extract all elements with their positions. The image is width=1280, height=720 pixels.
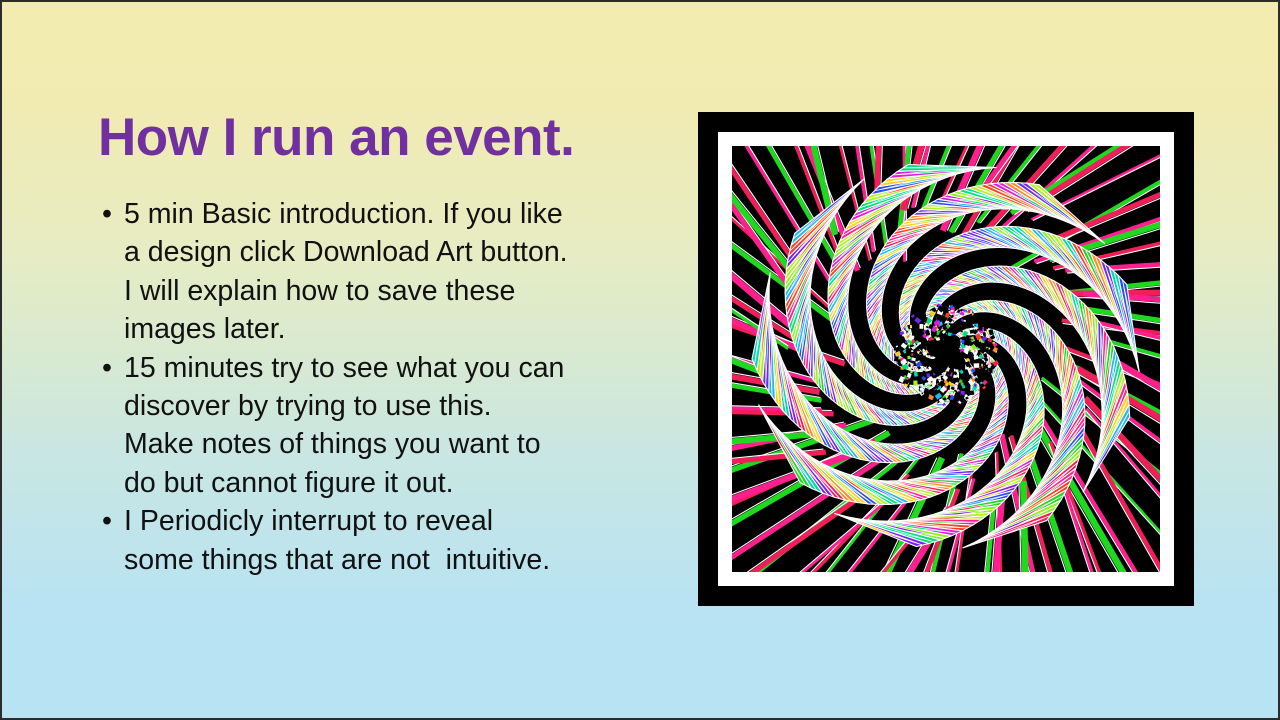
bullet-marker-icon: • xyxy=(102,349,112,387)
artwork-frame xyxy=(698,112,1194,606)
slide-canvas: How I run an event. •5 min Basic introdu… xyxy=(0,0,1280,720)
list-item-line: some things that are not intuitive. xyxy=(124,541,673,579)
bullet-marker-icon: • xyxy=(102,502,112,540)
list-item-line: Make notes of things you want to xyxy=(124,425,673,463)
list-item-line: I Periodicly interrupt to reveal xyxy=(124,502,673,540)
list-item: •I Periodicly interrupt to revealsome th… xyxy=(98,502,673,579)
list-item-line: images later. xyxy=(124,310,673,348)
bullet-marker-icon: • xyxy=(102,195,112,233)
list-item-line: discover by trying to use this. xyxy=(124,387,673,425)
list-item: •15 minutes try to see what you candisco… xyxy=(98,349,673,503)
list-item: •5 min Basic introduction. If you likea … xyxy=(98,195,673,349)
list-item-line: do but cannot figure it out. xyxy=(124,464,673,502)
page-title: How I run an event. xyxy=(98,110,678,166)
list-item-line: 5 min Basic introduction. If you like xyxy=(124,195,673,233)
bullet-list: •5 min Basic introduction. If you likea … xyxy=(98,195,673,579)
list-item-line: a design click Download Art button. xyxy=(124,233,673,271)
list-item-line: I will explain how to save these xyxy=(124,272,673,310)
spiral-fractal-art-image xyxy=(732,146,1160,572)
list-item-line: 15 minutes try to see what you can xyxy=(124,349,673,387)
artwork-mat xyxy=(718,132,1174,586)
